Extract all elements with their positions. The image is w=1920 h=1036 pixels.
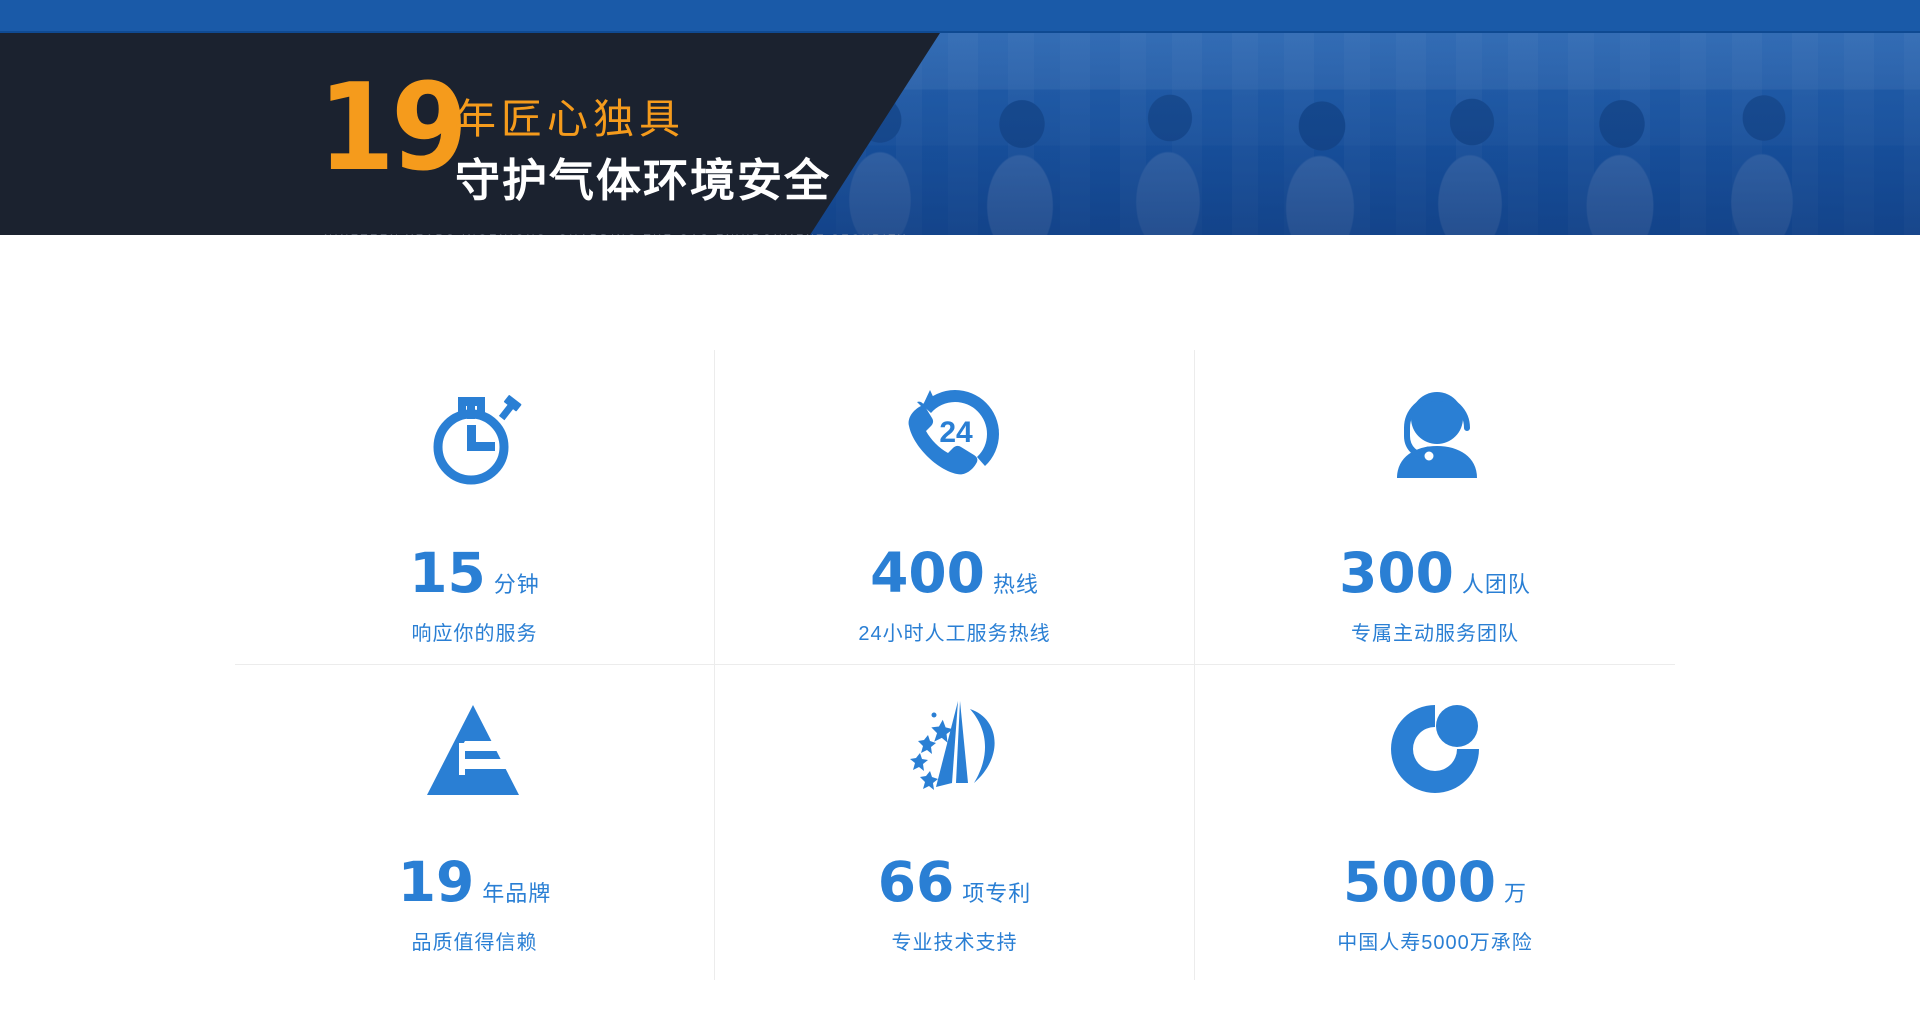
stat-number: 400 xyxy=(870,546,985,601)
stat-value-row: 300 人团队 xyxy=(1339,546,1531,601)
stat-unit: 万 xyxy=(1504,883,1527,905)
stat-description: 24小时人工服务热线 xyxy=(858,617,1050,646)
stat-value-row: 400 热线 xyxy=(870,546,1039,601)
banner-years-number: 19 xyxy=(318,69,464,189)
china-life-icon xyxy=(1383,679,1487,819)
stopwatch-icon xyxy=(422,364,528,504)
stat-card-hotline: 24 400 热线 24小时人工服务热线 xyxy=(715,350,1195,665)
banner-headline-line2: 守护气体环境安全 xyxy=(455,144,831,209)
stat-value-row: 5000 万 xyxy=(1343,855,1527,910)
stat-card-response-time: 15 分钟 响应你的服务 xyxy=(235,350,715,665)
stat-unit: 人团队 xyxy=(1462,574,1531,596)
stat-number: 19 xyxy=(398,855,475,910)
stat-value-row: 15 分钟 xyxy=(409,546,540,601)
stat-unit: 热线 xyxy=(993,574,1039,596)
svg-text:24: 24 xyxy=(939,416,973,449)
stat-number: 5000 xyxy=(1343,855,1496,910)
stat-description: 中国人寿5000万承险 xyxy=(1337,926,1533,955)
stat-card-team: 300 人团队 专属主动服务团队 xyxy=(1195,350,1675,665)
stat-card-brand-years: 19 年品牌 品质值得信赖 xyxy=(235,665,715,980)
stat-description: 品质值得信赖 xyxy=(412,926,538,955)
stat-description: 专属主动服务团队 xyxy=(1351,617,1519,646)
stat-number: 66 xyxy=(878,855,955,910)
stat-card-insurance: 5000 万 中国人寿5000万承险 xyxy=(1195,665,1675,980)
stat-unit: 项专利 xyxy=(962,883,1031,905)
patent-tower-stars-icon xyxy=(900,679,1010,819)
triangle-brand-icon xyxy=(423,679,527,819)
stat-value-row: 66 项专利 xyxy=(878,855,1032,910)
stat-unit: 年品牌 xyxy=(482,883,551,905)
banner-headline-line1: 年匠心独具 xyxy=(455,85,685,145)
banner-text-block: 19 年匠心独具 守护气体环境安全 NINETEEN YEARS INGENIO… xyxy=(0,33,1010,235)
headset-agent-icon xyxy=(1383,364,1487,504)
stat-unit: 分钟 xyxy=(494,574,540,596)
top-blue-strip xyxy=(0,0,1920,33)
stat-value-row: 19 年品牌 xyxy=(398,855,552,910)
banner-english-tagline: NINETEEN YEARS INGENIOUS, GUARDING THE G… xyxy=(324,233,908,235)
phone-24h-icon: 24 xyxy=(899,364,1011,504)
stat-description: 专业技术支持 xyxy=(892,926,1018,955)
stat-number: 15 xyxy=(409,546,486,601)
stat-number: 300 xyxy=(1339,546,1454,601)
stat-description: 响应你的服务 xyxy=(412,617,538,646)
stat-card-patents: 66 项专利 专业技术支持 xyxy=(715,665,1195,980)
hero-banner: 19 年匠心独具 守护气体环境安全 NINETEEN YEARS INGENIO… xyxy=(0,0,1920,235)
promo-page: 19 年匠心独具 守护气体环境安全 NINETEEN YEARS INGENIO… xyxy=(0,0,1920,1036)
stats-grid: 15 分钟 响应你的服务 24 400 热线 24小时人工服务热线 xyxy=(235,350,1675,980)
